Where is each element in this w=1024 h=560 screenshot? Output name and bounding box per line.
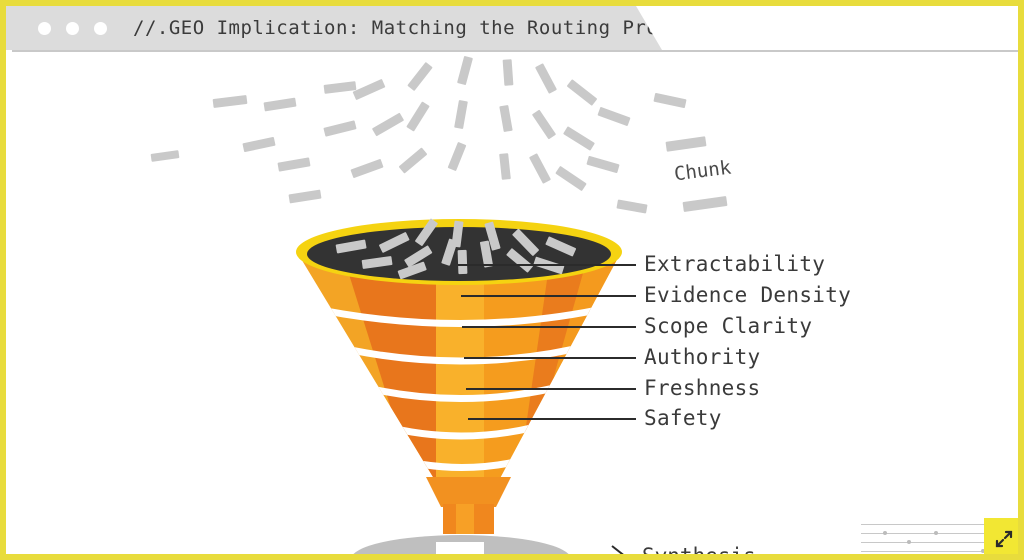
funnel-graphic (6, 52, 1018, 558)
stage-label-freshness: Freshness (644, 376, 761, 400)
footer-decoration-lines (861, 520, 1001, 558)
leader-line (464, 357, 636, 359)
window-titlebar: //.GEO Implication: Matching the Routing… (6, 6, 662, 50)
footer-line (861, 551, 1001, 552)
stage-label-extractability: Extractability (644, 252, 825, 276)
footer-dot (907, 540, 911, 544)
expand-diagonal-icon (993, 528, 1015, 550)
page-title: //.GEO Implication: Matching the Routing… (133, 17, 706, 39)
leader-line (468, 418, 636, 420)
stage-label-evidence-density: Evidence Density (644, 283, 851, 307)
slide-window: //.GEO Implication: Matching the Routing… (0, 0, 1024, 560)
stage-label-safety: Safety (644, 406, 722, 430)
diagram-stage: Chunk (6, 52, 1018, 558)
window-dot-minimize[interactable] (66, 22, 79, 35)
stage-label-scope-clarity: Scope Clarity (644, 314, 812, 338)
expand-button[interactable] (984, 518, 1024, 560)
window-dot-maximize[interactable] (94, 22, 107, 35)
footer-dot (883, 531, 887, 535)
stage-label-authority: Authority (644, 345, 761, 369)
footer-line (861, 542, 1001, 543)
footer-dot (934, 531, 938, 535)
window-controls (38, 22, 107, 35)
leader-line (458, 264, 636, 266)
footer-line (861, 524, 1001, 525)
synthesis-label: Synthesis (642, 544, 756, 560)
leader-line (461, 295, 636, 297)
footer-line (861, 533, 1001, 534)
funnel-spout (426, 477, 511, 534)
window-dot-close[interactable] (38, 22, 51, 35)
leader-line (466, 388, 636, 390)
leader-line (462, 326, 636, 328)
